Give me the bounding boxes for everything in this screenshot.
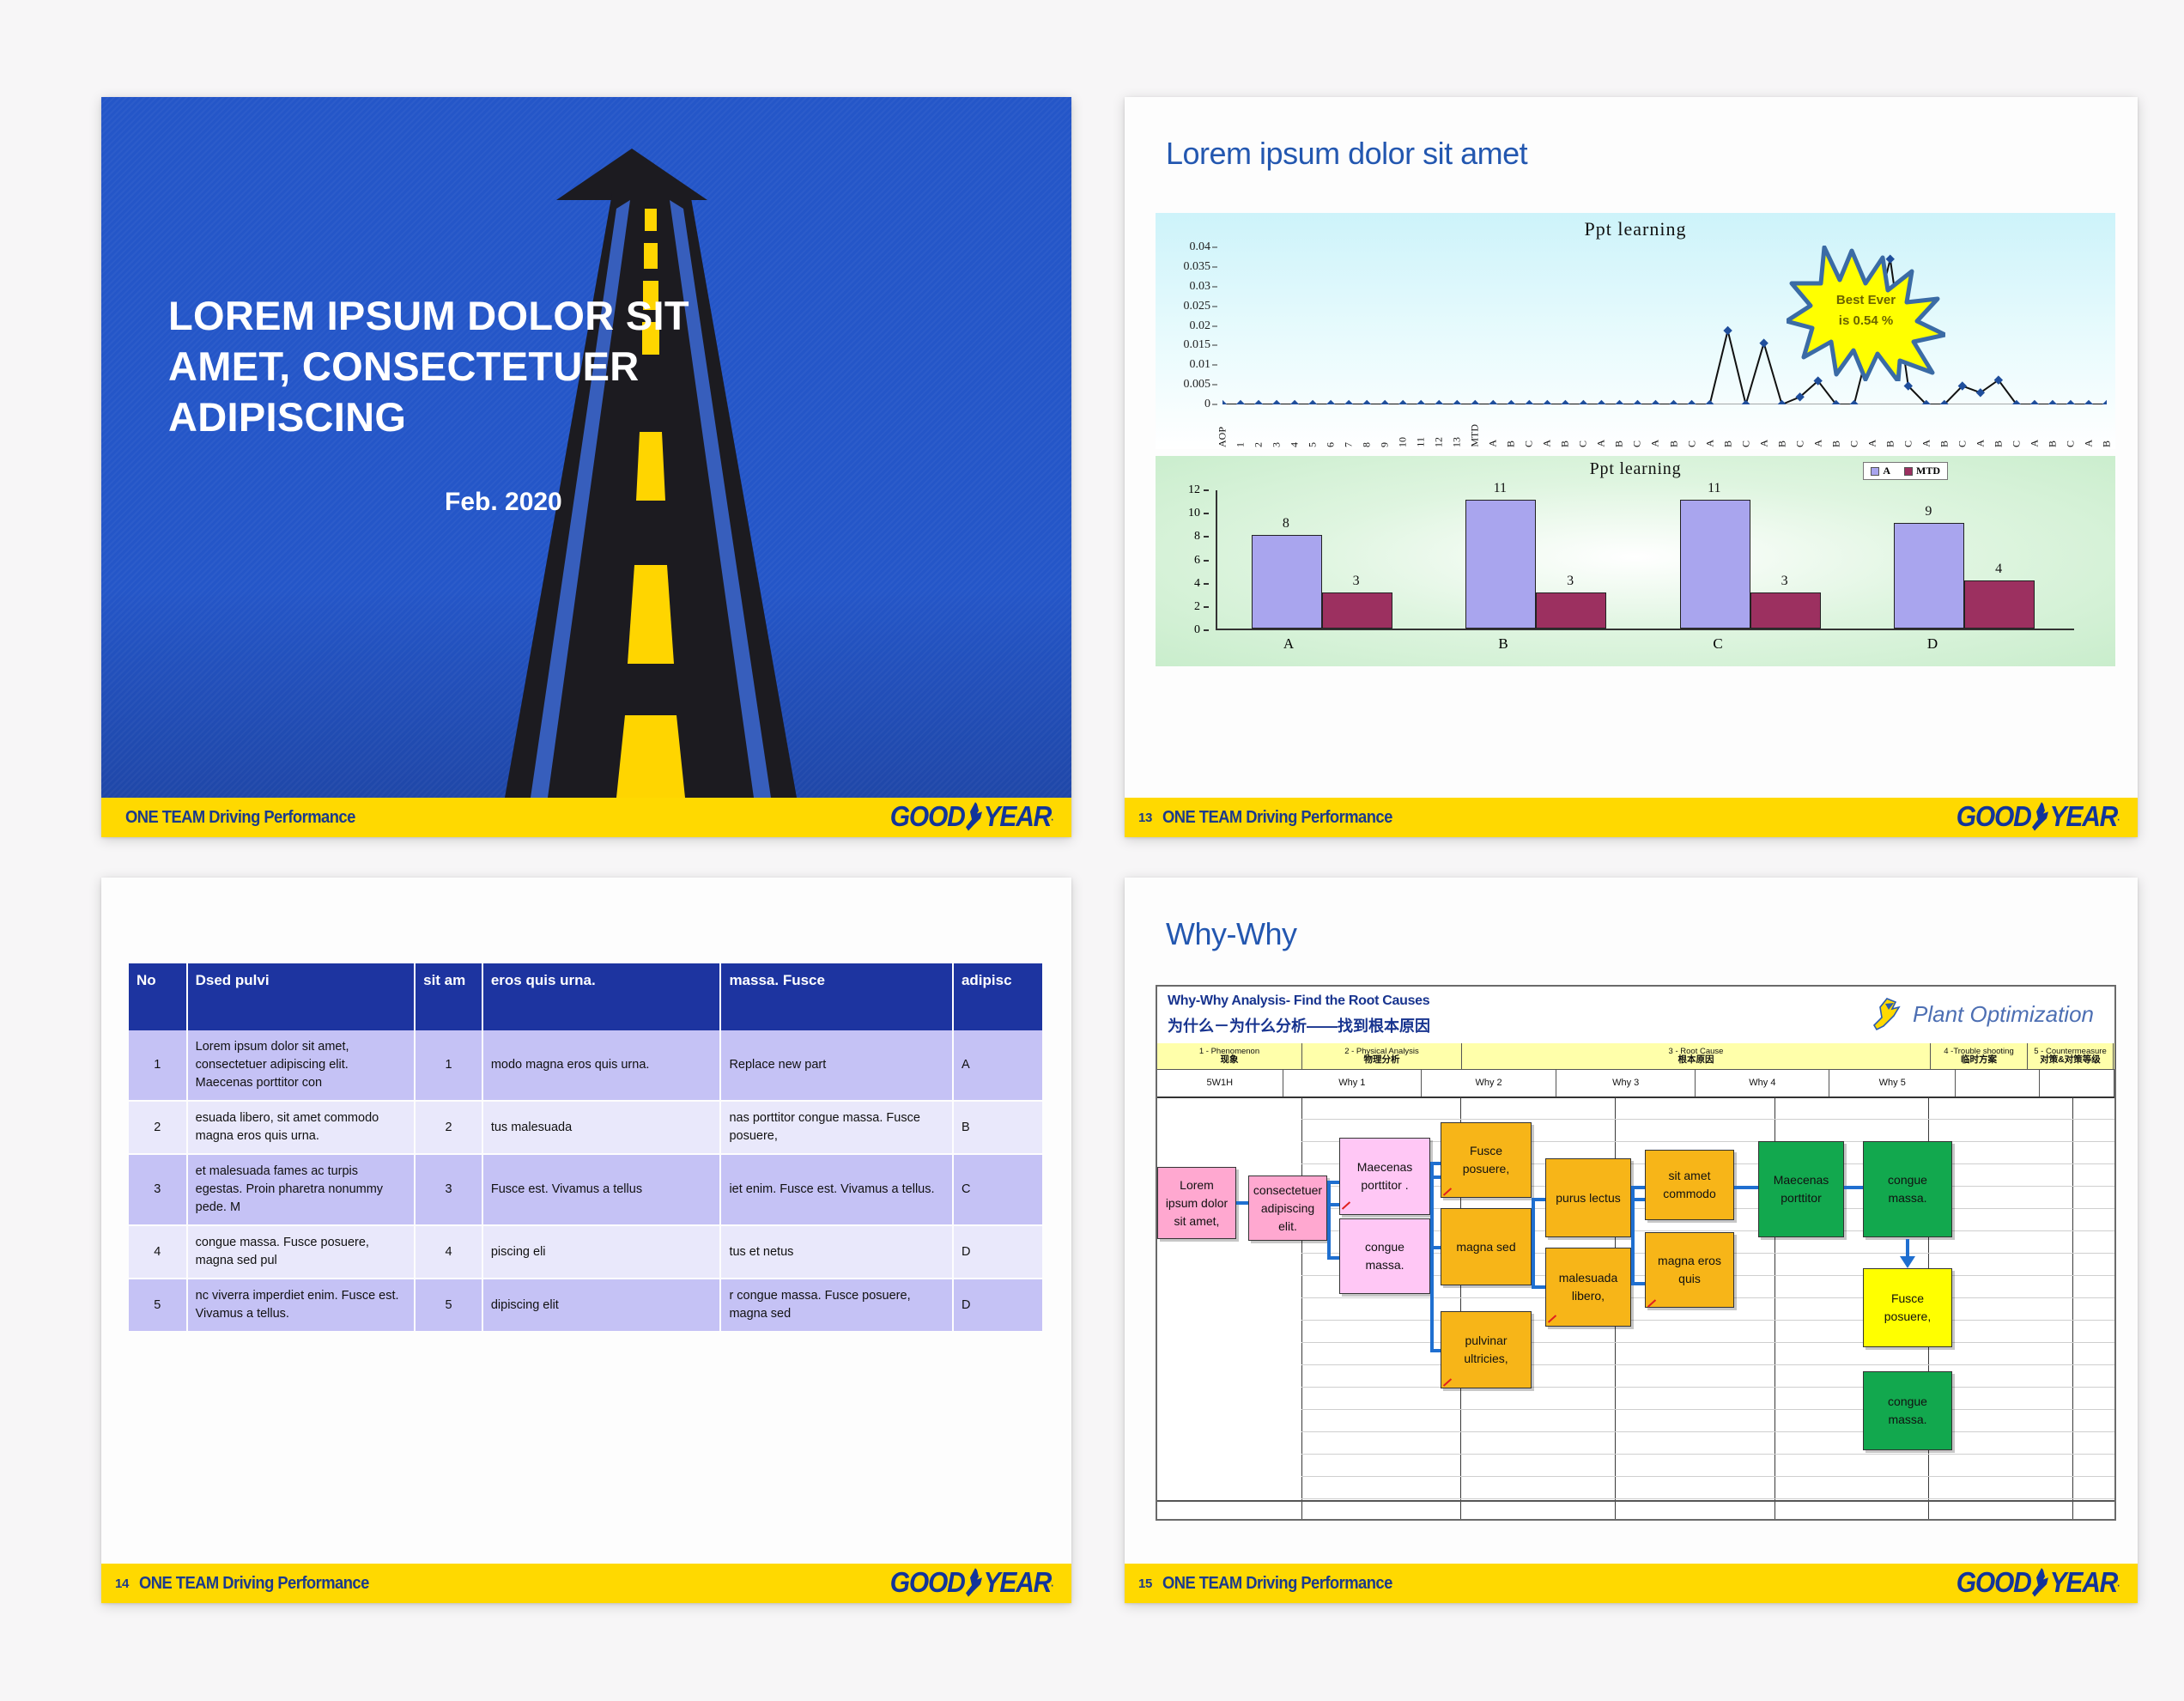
x-tick-label: B bbox=[1992, 440, 2005, 447]
y-tick bbox=[1212, 247, 1217, 248]
data-point-marker bbox=[1579, 400, 1587, 404]
logo-year-text: YEAR bbox=[984, 801, 1052, 834]
x-tick-label: A bbox=[2028, 440, 2041, 447]
grid-hline bbox=[1301, 1476, 2114, 1477]
legend-item-mtd: MTD bbox=[1904, 465, 1940, 477]
data-point-marker bbox=[1290, 400, 1299, 404]
bar-chart: Ppt learning A MTD 024681012 8311311394 … bbox=[1156, 456, 2115, 666]
cell-sit: 2 bbox=[415, 1101, 482, 1154]
data-table: No Dsed pulvi sit am eros quis urna. mas… bbox=[129, 963, 1044, 1333]
cell-desc: et malesuada fames ac turpis egestas. Pr… bbox=[187, 1154, 415, 1225]
y-tick bbox=[1212, 286, 1217, 287]
grid-hline bbox=[1301, 1342, 2114, 1343]
x-tick-label: B bbox=[1829, 440, 1842, 447]
data-point-marker bbox=[1759, 338, 1768, 347]
x-tick-label: A bbox=[1703, 440, 1716, 447]
y-tick bbox=[1204, 489, 1209, 491]
registered-mark: . bbox=[1051, 1577, 1053, 1589]
x-tick-label: B bbox=[1613, 440, 1626, 447]
logo-year-text: YEAR bbox=[2050, 801, 2118, 834]
whywhy-grid: Lorem ipsum dolor sit amet,consectetuer … bbox=[1157, 1097, 2114, 1519]
connector bbox=[1631, 1186, 1645, 1189]
column-label-cn: 对策&对策等级 bbox=[2040, 1055, 2101, 1065]
cell-sit: 4 bbox=[415, 1225, 482, 1279]
x-tick-label: A bbox=[1974, 440, 1987, 447]
cell-no: 1 bbox=[129, 1030, 187, 1101]
x-tick-label: 6 bbox=[1325, 442, 1338, 447]
whywhy-box-orange-6: pulvinar ultricies, bbox=[1441, 1311, 1532, 1388]
connector bbox=[1532, 1285, 1545, 1289]
y-tick-label: 0.005 bbox=[1184, 378, 1211, 392]
connector bbox=[1327, 1181, 1331, 1260]
whywhy-column-2: 2 - Physical Analysis物理分析 bbox=[1302, 1043, 1462, 1069]
whywhy-subcolumn-7 bbox=[1956, 1069, 2040, 1097]
data-point-marker bbox=[2102, 400, 2107, 404]
x-tick-label: 8 bbox=[1361, 442, 1374, 447]
goodyear-logo: GOOD YEAR . bbox=[890, 801, 1053, 834]
grid-hline bbox=[1301, 1409, 2114, 1410]
y-tick-label: 0 bbox=[1204, 398, 1210, 411]
whywhy-box-green-12: congue massa. bbox=[1863, 1141, 1952, 1237]
data-point-marker bbox=[1651, 400, 1659, 404]
cell-massa: r congue massa. Fusce posuere, magna sed bbox=[720, 1279, 953, 1332]
table-header-row: No Dsed pulvi sit am eros quis urna. mas… bbox=[129, 963, 1043, 1030]
column-header-dsed: Dsed pulvi bbox=[187, 963, 415, 1030]
whywhy-box-orange-7: purus lectus bbox=[1545, 1158, 1631, 1237]
x-tick-label: B bbox=[1775, 440, 1788, 447]
registered-mark: . bbox=[2117, 811, 2119, 823]
y-tick-label: 10 bbox=[1188, 507, 1200, 520]
column-header-adipisc: adipisc bbox=[953, 963, 1043, 1030]
x-tick-label: A bbox=[1757, 440, 1770, 447]
bar-value-label: 3 bbox=[1781, 574, 1788, 589]
connector bbox=[1906, 1239, 1909, 1258]
title-date: Feb. 2020 bbox=[445, 488, 562, 517]
whywhy-column-4: 4 -Trouble shooting临时方案 bbox=[1931, 1043, 2028, 1069]
connector bbox=[1430, 1349, 1441, 1352]
callout-line-1: Best Ever bbox=[1787, 290, 1945, 311]
connector bbox=[1236, 1201, 1248, 1205]
cell-no: 4 bbox=[129, 1225, 187, 1279]
cell-eros: tus malesuada bbox=[482, 1101, 721, 1154]
footer-brand-text: ONE TEAM Driving Performance bbox=[125, 808, 355, 828]
line-chart-y-axis: 00.0050.010.0150.020.0250.030.0350.04 bbox=[1156, 247, 1217, 404]
cell-desc: nc viverra imperdiet enim. Fusce est. Vi… bbox=[187, 1279, 415, 1332]
data-point-marker bbox=[1254, 400, 1263, 404]
best-ever-callout: Best Ever is 0.54 % bbox=[1787, 246, 1945, 381]
y-tick bbox=[1212, 385, 1217, 386]
data-point-marker bbox=[1561, 400, 1569, 404]
registered-mark: . bbox=[2117, 1577, 2119, 1589]
column-label-cn: 根本原因 bbox=[1678, 1055, 1714, 1065]
x-tick-label: A bbox=[1865, 440, 1878, 447]
whywhy-subcolumn-headers: 5W1HWhy 1Why 2Why 3Why 4Why 5 bbox=[1157, 1069, 2114, 1098]
column-header-eros: eros quis urna. bbox=[482, 963, 721, 1030]
bar-chart-legend: A MTD bbox=[1863, 462, 1948, 480]
slide-number: 14 bbox=[115, 1576, 129, 1591]
cell-eros: modo magna eros quis urna. bbox=[482, 1030, 721, 1101]
whywhy-box-pink-0: Lorem ipsum dolor sit amet, bbox=[1157, 1167, 1236, 1239]
cell-massa: nas porttitor congue massa. Fusce posuer… bbox=[720, 1101, 953, 1154]
cell-massa: tus et netus bbox=[720, 1225, 953, 1279]
arrow-down-icon bbox=[1900, 1256, 1915, 1268]
bar-mtd-A bbox=[1322, 592, 1392, 629]
bar-chart-y-axis: 024681012 bbox=[1156, 490, 1209, 630]
cell-sit: 5 bbox=[415, 1279, 482, 1332]
x-tick-label: C bbox=[1956, 440, 1969, 447]
cell-no: 2 bbox=[129, 1101, 187, 1154]
whywhy-slide-title: Why-Why bbox=[1166, 916, 1297, 952]
x-tick-label: 4 bbox=[1289, 442, 1301, 447]
y-tick bbox=[1204, 629, 1209, 631]
cell-desc: esuada libero, sit amet commodo magna er… bbox=[187, 1101, 415, 1154]
table-row: 2esuada libero, sit amet commodo magna e… bbox=[129, 1101, 1043, 1154]
whywhy-column-3: 3 - Root Cause根本原因 bbox=[1462, 1043, 1931, 1069]
winged-foot-icon bbox=[965, 1569, 984, 1598]
legend-label-mtd: MTD bbox=[1916, 465, 1940, 477]
whywhy-column-5: 5 - Countermeasure对策&对策等级 bbox=[2028, 1043, 2114, 1069]
cell-sit: 1 bbox=[415, 1030, 482, 1101]
logo-good-text: GOOD bbox=[1956, 1567, 2031, 1600]
bar-value-label: 9 bbox=[1925, 504, 1932, 519]
y-tick-label: 0 bbox=[1194, 623, 1200, 637]
slide-footer: 13 ONE TEAM Driving Performance GOOD YEA… bbox=[1125, 798, 2138, 837]
x-tick-label: C bbox=[1523, 440, 1536, 447]
logo-year-text: YEAR bbox=[984, 1567, 1052, 1600]
x-tick-label: 11 bbox=[1415, 437, 1428, 447]
chart-slide-title: Lorem ipsum dolor sit amet bbox=[1166, 136, 1527, 172]
data-point-marker bbox=[2030, 400, 2039, 404]
x-tick-label: 13 bbox=[1451, 437, 1464, 447]
column-label-cn: 现象 bbox=[1221, 1055, 1239, 1065]
whywhy-column-1: 1 - Phenomenon现象 bbox=[1157, 1043, 1302, 1069]
data-point-marker bbox=[1850, 400, 1859, 404]
y-tick-label: 0.035 bbox=[1184, 260, 1211, 274]
line-series bbox=[1222, 259, 2107, 404]
slide-charts: Lorem ipsum dolor sit amet Ppt learning … bbox=[1125, 97, 2138, 837]
x-tick-label: 10 bbox=[1397, 437, 1410, 447]
cell-eros: piscing eli bbox=[482, 1225, 721, 1279]
logo-good-text: GOOD bbox=[1956, 801, 2031, 834]
cell-adipisc: C bbox=[953, 1154, 1043, 1225]
whywhy-box-orange-10: magna eros quis bbox=[1645, 1232, 1734, 1308]
y-tick-label: 0.025 bbox=[1184, 300, 1211, 313]
callout-line-2: is 0.54 % bbox=[1787, 311, 1945, 331]
data-point-marker bbox=[1380, 400, 1389, 404]
x-tick-label: C bbox=[1793, 440, 1806, 447]
y-tick-label: 0.04 bbox=[1190, 240, 1211, 254]
grid-hline bbox=[1301, 1387, 2114, 1388]
y-tick bbox=[1204, 513, 1209, 514]
x-tick-label: MTD bbox=[1469, 424, 1482, 447]
y-tick-label: 4 bbox=[1194, 577, 1200, 591]
bar-a-A bbox=[1252, 535, 1322, 629]
data-point-marker bbox=[1272, 400, 1281, 404]
legend-label-a: A bbox=[1883, 465, 1890, 477]
x-tick-label: C bbox=[2010, 440, 2023, 447]
x-tick-label: 3 bbox=[1271, 442, 1283, 447]
whywhy-subcolumn-6: Why 5 bbox=[1829, 1069, 1956, 1097]
road-arrow-illustration bbox=[101, 97, 1071, 798]
winged-foot-icon bbox=[1868, 995, 1906, 1033]
slide-whywhy: Why-Why Why-Why Analysis- Find the Root … bbox=[1125, 878, 2138, 1603]
data-point-marker bbox=[1417, 400, 1425, 404]
data-point-marker bbox=[1723, 326, 1732, 335]
title-background: LOREM IPSUM DOLOR SIT AMET, CONSECTETUER… bbox=[101, 97, 1071, 798]
logo-good-text: GOOD bbox=[890, 801, 965, 834]
column-label-cn: 临时方案 bbox=[1961, 1055, 1997, 1065]
y-tick bbox=[1204, 583, 1209, 585]
goodyear-logo: GOOD YEAR . bbox=[1956, 1567, 2119, 1600]
x-tick-label: D bbox=[1927, 635, 1938, 653]
y-tick-label: 8 bbox=[1194, 530, 1200, 544]
y-tick-label: 2 bbox=[1194, 600, 1200, 614]
bar-chart-x-axis: ABCD bbox=[1216, 635, 2074, 658]
connector bbox=[1430, 1246, 1441, 1249]
data-point-marker bbox=[1362, 400, 1371, 404]
data-point-marker bbox=[1435, 400, 1443, 404]
bar-mtd-D bbox=[1964, 580, 2035, 629]
whywhy-box-orange-5: magna sed bbox=[1441, 1208, 1532, 1285]
goodyear-logo: GOOD YEAR . bbox=[890, 1567, 1053, 1600]
data-point-marker bbox=[1597, 400, 1605, 404]
x-tick-label: A bbox=[1283, 635, 1294, 653]
x-tick-label: B bbox=[1667, 440, 1680, 447]
bar-value-label: 4 bbox=[1995, 562, 2002, 577]
whywhy-sheet: Why-Why Analysis- Find the Root Causes 为… bbox=[1156, 985, 2116, 1521]
whywhy-box-violet-2: Maecenas porttitor . bbox=[1339, 1138, 1430, 1215]
whywhy-box-yellow-13: Fusce posuere, bbox=[1863, 1268, 1952, 1347]
x-tick-label: 1 bbox=[1235, 442, 1247, 447]
cell-eros: dipiscing elit bbox=[482, 1279, 721, 1332]
data-point-marker bbox=[1222, 400, 1227, 404]
callout-text: Best Ever is 0.54 % bbox=[1787, 290, 1945, 331]
whywhy-box-orange-4: Fusce posuere, bbox=[1441, 1122, 1532, 1198]
data-point-marker bbox=[1543, 400, 1551, 404]
data-point-marker bbox=[2084, 400, 2093, 404]
cell-no: 5 bbox=[129, 1279, 187, 1332]
x-tick-label: A bbox=[1595, 440, 1608, 447]
slide-footer: 15 ONE TEAM Driving Performance GOOD YEA… bbox=[1125, 1564, 2138, 1603]
y-tick bbox=[1212, 266, 1217, 267]
x-tick-label: A bbox=[1541, 440, 1554, 447]
slide-footer: 14 ONE TEAM Driving Performance GOOD YEA… bbox=[101, 1564, 1071, 1603]
grid-hline bbox=[1301, 1320, 2114, 1321]
slide-number: 15 bbox=[1138, 1576, 1152, 1591]
grid-vline bbox=[1301, 1097, 1302, 1519]
whywhy-box-orange-8: malesuada libero, bbox=[1545, 1248, 1631, 1327]
whywhy-sheet-header: Why-Why Analysis- Find the Root Causes 为… bbox=[1157, 987, 2114, 1044]
bar-a-B bbox=[1465, 500, 1536, 629]
cell-desc: Lorem ipsum dolor sit amet, consectetuer… bbox=[187, 1030, 415, 1101]
grid-vline bbox=[2072, 1097, 2073, 1519]
whywhy-box-orange-9: sit amet commodo bbox=[1645, 1150, 1734, 1220]
y-tick-label: 12 bbox=[1188, 483, 1200, 497]
whywhy-column-headers: 1 - Phenomenon现象2 - Physical Analysis物理分… bbox=[1157, 1043, 2114, 1070]
x-tick-label: A bbox=[1487, 440, 1500, 447]
data-point-marker bbox=[1326, 400, 1335, 404]
whywhy-box-green-14: congue massa. bbox=[1863, 1371, 1952, 1450]
legend-item-a: A bbox=[1871, 465, 1890, 477]
x-tick-label: C bbox=[1713, 635, 1722, 653]
x-tick-label: A bbox=[1649, 440, 1662, 447]
y-tick bbox=[1212, 365, 1217, 366]
x-tick-label: C bbox=[1902, 440, 1914, 447]
bar-value-label: 11 bbox=[1708, 481, 1720, 496]
x-tick-label: 12 bbox=[1433, 437, 1446, 447]
connector bbox=[1734, 1186, 1758, 1189]
connector bbox=[1430, 1162, 1434, 1352]
column-label-cn: 物理分析 bbox=[1364, 1055, 1400, 1065]
x-tick-label: A bbox=[2082, 440, 2095, 447]
y-tick-label: 0.015 bbox=[1184, 338, 1211, 352]
y-tick bbox=[1204, 606, 1209, 608]
y-tick bbox=[1212, 306, 1217, 307]
table-row: 4congue massa. Fusce posuere, magna sed … bbox=[129, 1225, 1043, 1279]
whywhy-box-green-11: Maecenas porttitor bbox=[1758, 1141, 1844, 1237]
data-point-marker bbox=[1344, 400, 1353, 404]
x-tick-label: 9 bbox=[1379, 442, 1392, 447]
whywhy-subcolumn-4: Why 3 bbox=[1556, 1069, 1696, 1097]
line-chart-x-axis: AOP12345678910111213MTDABCABCABCABCABCAB… bbox=[1222, 406, 2107, 447]
data-point-marker bbox=[1489, 400, 1497, 404]
connector bbox=[1327, 1256, 1339, 1260]
whywhy-box-pink-1: consectetuer adipiscing elit. bbox=[1248, 1176, 1327, 1241]
x-tick-label: B bbox=[1498, 635, 1508, 653]
x-tick-label: B bbox=[1884, 440, 1896, 447]
grid-hline bbox=[1301, 1454, 2114, 1455]
x-tick-label: B bbox=[1938, 440, 1950, 447]
y-tick bbox=[1212, 404, 1217, 405]
bar-a-D bbox=[1894, 523, 1964, 629]
bar-value-label: 3 bbox=[1353, 574, 1360, 589]
connector bbox=[1327, 1181, 1339, 1184]
bar-value-label: 11 bbox=[1494, 481, 1507, 496]
column-header-no: No bbox=[129, 963, 187, 1030]
cell-eros: Fusce est. Vivamus a tellus bbox=[482, 1154, 721, 1225]
data-point-marker bbox=[1741, 400, 1750, 404]
data-point-marker bbox=[1308, 400, 1317, 404]
table-row: 3et malesuada fames ac turpis egestas. P… bbox=[129, 1154, 1043, 1225]
page-title: LOREM IPSUM DOLOR SIT AMET, CONSECTETUER… bbox=[168, 290, 735, 443]
cell-massa: Replace new part bbox=[720, 1030, 953, 1101]
grid-hline bbox=[1301, 1431, 2114, 1432]
data-point-marker bbox=[1615, 400, 1623, 404]
x-tick-label: 2 bbox=[1253, 442, 1265, 447]
slide-footer: ONE TEAM Driving Performance GOOD YEAR . bbox=[101, 798, 1071, 837]
x-tick-label: C bbox=[2064, 440, 2077, 447]
x-tick-label: C bbox=[1847, 440, 1860, 447]
y-tick-label: 6 bbox=[1194, 554, 1200, 568]
whywhy-subcolumn-3: Why 2 bbox=[1422, 1069, 1556, 1097]
winged-foot-icon bbox=[2031, 803, 2050, 832]
grid-hline bbox=[1301, 1119, 2114, 1120]
data-point-marker bbox=[1705, 400, 1714, 404]
x-tick-label: C bbox=[1739, 440, 1752, 447]
data-point-marker bbox=[1777, 400, 1786, 404]
footer-brand-text: ONE TEAM Driving Performance bbox=[1162, 1574, 1392, 1594]
data-point-marker bbox=[1471, 400, 1479, 404]
whywhy-box-violet-3: congue massa. bbox=[1339, 1218, 1430, 1294]
plant-optimization-logo: Plant Optimization bbox=[1868, 995, 2094, 1033]
sheet-title-cn: 为什么－为什么分析——找到根本原因 bbox=[1168, 1014, 1430, 1036]
grid-hline bbox=[1301, 1364, 2114, 1365]
goodyear-logo: GOOD YEAR . bbox=[1956, 801, 2119, 834]
line-chart-title: Ppt learning bbox=[1156, 218, 2115, 240]
x-tick-label: B bbox=[2046, 440, 2059, 447]
cell-massa: iet enim. Fusce est. Vivamus a tellus. bbox=[720, 1154, 953, 1225]
bar-value-label: 3 bbox=[1567, 574, 1574, 589]
whywhy-subcolumn-5: Why 4 bbox=[1696, 1069, 1829, 1097]
cell-no: 3 bbox=[129, 1154, 187, 1225]
connector bbox=[1631, 1282, 1645, 1285]
winged-foot-icon bbox=[2031, 1569, 2050, 1598]
data-point-marker bbox=[1669, 400, 1677, 404]
data-point-marker bbox=[1398, 400, 1407, 404]
x-tick-label: C bbox=[1685, 440, 1698, 447]
y-tick bbox=[1204, 536, 1209, 538]
x-tick-label: B bbox=[1721, 440, 1734, 447]
table-row: 5nc viverra imperdiet enim. Fusce est. V… bbox=[129, 1279, 1043, 1332]
sheet-title-en: Why-Why Analysis- Find the Root Causes bbox=[1168, 993, 1429, 1009]
footer-brand-text: ONE TEAM Driving Performance bbox=[139, 1574, 369, 1594]
connector bbox=[1532, 1198, 1535, 1285]
cell-adipisc: D bbox=[953, 1279, 1043, 1332]
cell-adipisc: D bbox=[953, 1225, 1043, 1279]
y-tick bbox=[1212, 325, 1217, 326]
slide-title: LOREM IPSUM DOLOR SIT AMET, CONSECTETUER… bbox=[101, 97, 1071, 837]
bar-mtd-C bbox=[1750, 592, 1821, 629]
column-header-massa: massa. Fusce bbox=[720, 963, 953, 1030]
x-tick-label: C bbox=[1631, 440, 1644, 447]
whywhy-subcolumn-2: Why 1 bbox=[1283, 1069, 1422, 1097]
data-point-marker bbox=[2066, 400, 2075, 404]
cell-sit: 3 bbox=[415, 1154, 482, 1225]
data-point-marker bbox=[1687, 400, 1696, 404]
winged-foot-icon bbox=[965, 803, 984, 832]
connector bbox=[1430, 1162, 1441, 1165]
y-tick-label: 0.01 bbox=[1190, 358, 1211, 372]
connector bbox=[1631, 1186, 1635, 1282]
y-tick bbox=[1204, 560, 1209, 562]
grid-hline bbox=[1301, 1498, 2114, 1499]
logo-good-text: GOOD bbox=[890, 1567, 965, 1600]
slide-number: 13 bbox=[1138, 811, 1152, 825]
x-tick-label: B bbox=[2101, 440, 2114, 447]
bar-chart-title: Ppt learning bbox=[1156, 459, 2115, 479]
footer-brand-text: ONE TEAM Driving Performance bbox=[1162, 808, 1392, 828]
data-point-marker bbox=[1236, 400, 1245, 404]
line-chart: Ppt learning 00.0050.010.0150.020.0250.0… bbox=[1156, 213, 2115, 449]
x-tick-label: AOP bbox=[1216, 427, 1229, 447]
data-point-marker bbox=[1633, 400, 1641, 404]
data-point-marker bbox=[2048, 400, 2057, 404]
data-point-marker bbox=[1453, 400, 1461, 404]
x-tick-label: C bbox=[1577, 440, 1590, 447]
bar-a-C bbox=[1680, 500, 1750, 629]
x-tick-label: B bbox=[1559, 440, 1572, 447]
cell-adipisc: B bbox=[953, 1101, 1043, 1154]
x-tick-label: 5 bbox=[1307, 442, 1319, 447]
logo-year-text: YEAR bbox=[2050, 1567, 2118, 1600]
slide-table: No Dsed pulvi sit am eros quis urna. mas… bbox=[101, 878, 1071, 1603]
whywhy-subcolumn-1: 5W1H bbox=[1157, 1069, 1283, 1097]
cell-adipisc: A bbox=[953, 1030, 1043, 1101]
y-tick bbox=[1212, 345, 1217, 346]
connector bbox=[1844, 1186, 1863, 1189]
x-tick-label: 7 bbox=[1343, 442, 1356, 447]
table-row: 1Lorem ipsum dolor sit amet, consectetue… bbox=[129, 1030, 1043, 1101]
